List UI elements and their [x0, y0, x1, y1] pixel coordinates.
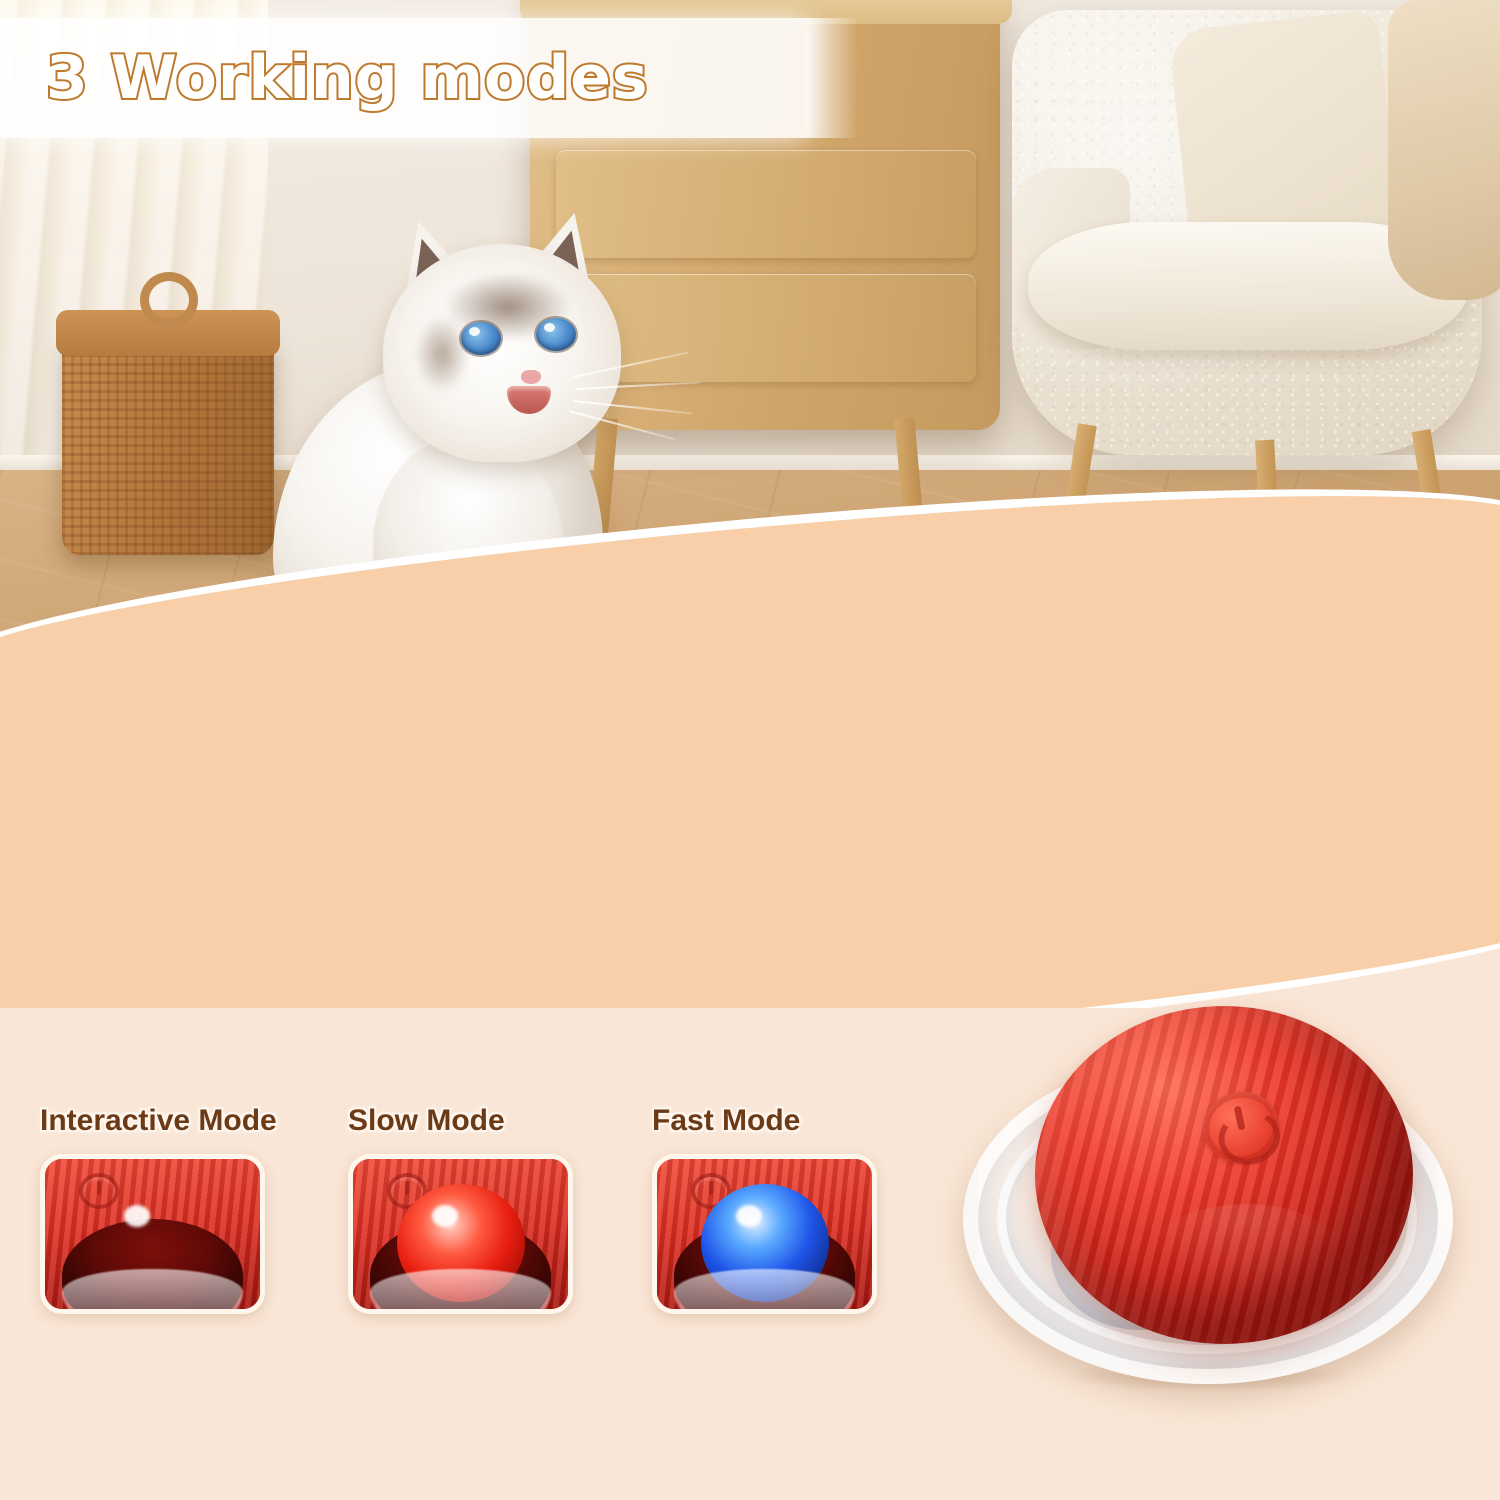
mode-fast[interactable]: Fast Mode — [652, 1104, 927, 1314]
mode-thumbnail-fast[interactable] — [652, 1154, 877, 1314]
mode-slow[interactable]: Slow Mode — [348, 1104, 623, 1314]
motion-band-inner — [0, 528, 1500, 1040]
ball-base — [674, 1269, 855, 1314]
red-silicone-ball — [1035, 1006, 1413, 1344]
cat-nose — [521, 370, 541, 384]
hero-product-photo — [955, 1000, 1455, 1388]
cat-eye-left — [461, 322, 501, 355]
wicker-basket-handle — [140, 272, 198, 328]
power-button-icon[interactable] — [1197, 1085, 1286, 1169]
mode-label: Slow Mode — [348, 1104, 623, 1138]
mode-interactive[interactable]: Interactive Mode — [40, 1104, 315, 1314]
throw-blanket — [1388, 0, 1500, 300]
wicker-basket — [62, 335, 274, 555]
ball-base — [370, 1269, 551, 1314]
mode-label: Interactive Mode — [40, 1104, 315, 1138]
title-banner: 3 Working modes — [0, 18, 806, 138]
ball-lower-highlight — [1131, 1204, 1361, 1354]
mode-label: Fast Mode — [652, 1104, 927, 1138]
mode-thumbnail-interactive[interactable] — [40, 1154, 265, 1314]
cat-color-point-cheek — [407, 302, 477, 406]
cat-eye-right — [536, 318, 576, 351]
modes-row: Interactive Mode Slow Mode — [40, 1104, 940, 1384]
ball-base — [62, 1269, 243, 1314]
product-infographic: 3 Working modes — [0, 0, 1500, 1500]
page-title: 3 Working modes — [46, 43, 649, 113]
mode-thumbnail-slow[interactable] — [348, 1154, 573, 1314]
